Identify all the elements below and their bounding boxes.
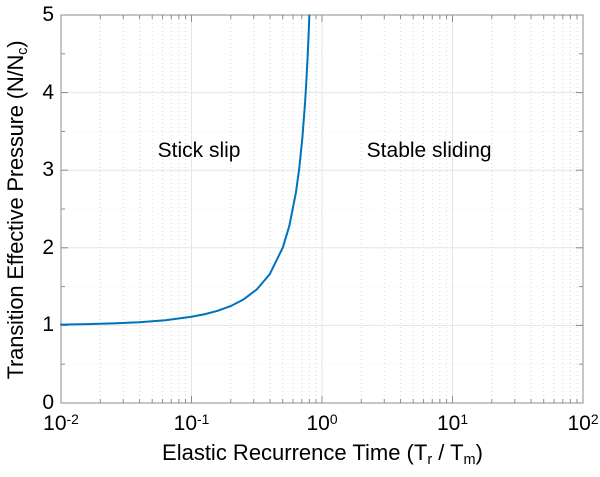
major-gridlines [61, 15, 583, 403]
chart-figure: Transition Effective Pressure (N/Nc) Ela… [0, 0, 600, 477]
plot-area [0, 0, 600, 477]
